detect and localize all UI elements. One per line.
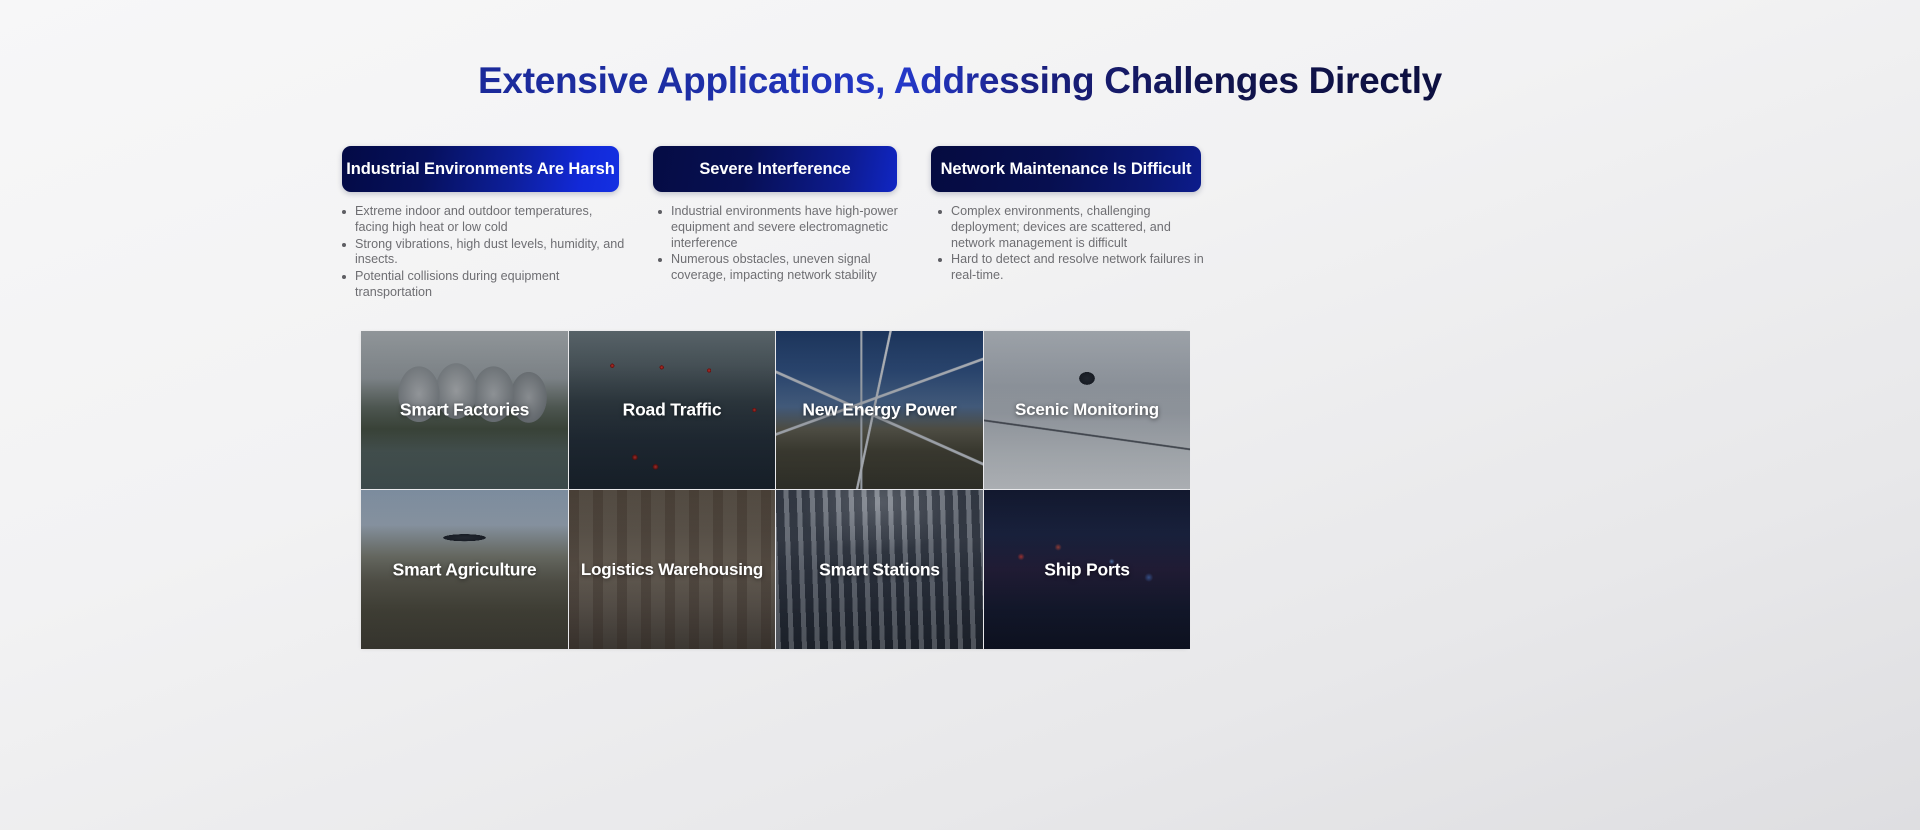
- challenge-column-maintenance: Complex environments, challenging deploy…: [938, 204, 1213, 302]
- list-item: Strong vibrations, high dust levels, hum…: [342, 237, 628, 269]
- tab-severe-interference[interactable]: Severe Interference: [653, 146, 897, 192]
- scenario-tile-smart-stations[interactable]: Smart Stations: [776, 490, 983, 649]
- scenario-tile-label: Smart Factories: [361, 400, 568, 421]
- list-item: Hard to detect and resolve network failu…: [938, 252, 1213, 284]
- bullet-list: Complex environments, challenging deploy…: [938, 204, 1213, 284]
- challenge-column-industrial: Extreme indoor and outdoor temperatures,…: [342, 204, 628, 302]
- scenario-tile-label: New Energy Power: [776, 400, 983, 421]
- list-item: Potential collisions during equipment tr…: [342, 269, 628, 301]
- scenario-tile-label: Smart Agriculture: [361, 559, 568, 580]
- challenge-tab-bar: Industrial Environments Are Harsh Severe…: [342, 146, 1201, 192]
- list-item: Industrial environments have high-power …: [658, 204, 908, 251]
- scenario-tile-logistics-warehousing[interactable]: Logistics Warehousing: [569, 490, 775, 649]
- scenario-tile-label: Road Traffic: [569, 400, 775, 421]
- scenario-tile-ship-ports[interactable]: Ship Ports: [984, 490, 1190, 649]
- scenario-tile-label: Scenic Monitoring: [984, 400, 1190, 420]
- list-item: Numerous obstacles, uneven signal covera…: [658, 252, 908, 284]
- scenario-tile-label: Smart Stations: [776, 559, 983, 580]
- scenario-tile-smart-factories[interactable]: Smart Factories: [361, 331, 568, 489]
- list-item: Complex environments, challenging deploy…: [938, 204, 1213, 251]
- scenario-tile-scenic-monitoring[interactable]: Scenic Monitoring: [984, 331, 1190, 489]
- page-title-container: Extensive Applications, Addressing Chall…: [0, 58, 1920, 104]
- application-scenario-grid: Smart Factories Road Traffic New Energy …: [361, 331, 1187, 648]
- list-item: Extreme indoor and outdoor temperatures,…: [342, 204, 628, 236]
- challenge-column-interference: Industrial environments have high-power …: [658, 204, 908, 302]
- scenario-tile-label: Ship Ports: [984, 559, 1190, 580]
- scenario-tile-new-energy-power[interactable]: New Energy Power: [776, 331, 983, 489]
- tab-industrial-environments-are-harsh[interactable]: Industrial Environments Are Harsh: [342, 146, 619, 192]
- page-title: Extensive Applications, Addressing Chall…: [478, 58, 1442, 104]
- scenario-tile-road-traffic[interactable]: Road Traffic: [569, 331, 775, 489]
- scenario-tile-label: Logistics Warehousing: [569, 560, 775, 580]
- bullet-list: Industrial environments have high-power …: [658, 204, 908, 284]
- scenario-tile-smart-agriculture[interactable]: Smart Agriculture: [361, 490, 568, 649]
- tab-network-maintenance-is-difficult[interactable]: Network Maintenance Is Difficult: [931, 146, 1201, 192]
- bullet-list: Extreme indoor and outdoor temperatures,…: [342, 204, 628, 301]
- challenge-detail-columns: Extreme indoor and outdoor temperatures,…: [342, 204, 1213, 302]
- application-showcase-page: Extensive Applications, Addressing Chall…: [0, 0, 1920, 830]
